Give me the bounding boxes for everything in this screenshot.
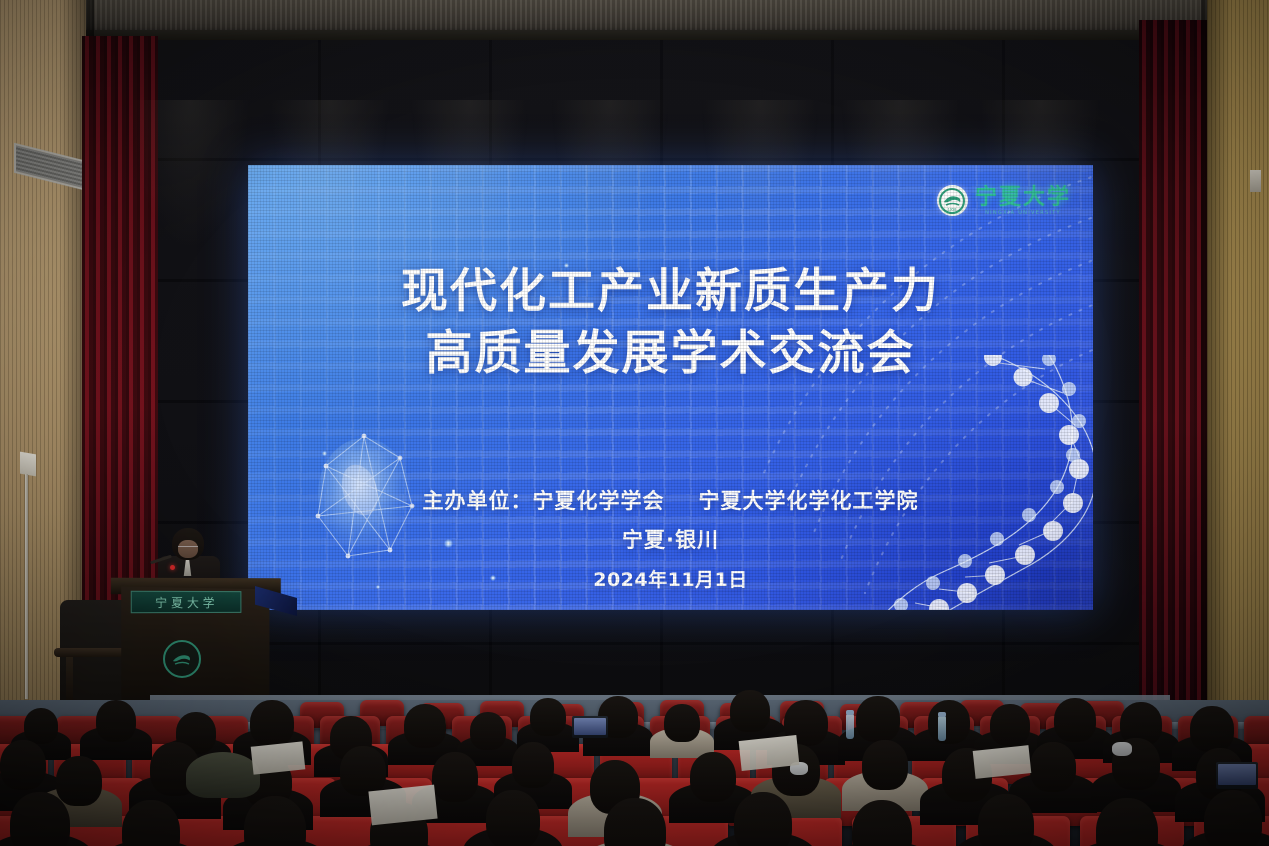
audience-head [470, 712, 506, 750]
handout-paper [739, 735, 800, 771]
screen-title-block: 现代化工产业新质生产力 高质量发展学术交流会 [248, 261, 1093, 385]
title-line-2: 高质量发展学术交流会 [248, 323, 1093, 385]
wall-junction-box-icon [20, 452, 36, 477]
water-bottle-cap [846, 710, 854, 715]
audience-head [1030, 742, 1076, 792]
audience-head [56, 756, 102, 806]
audience-head [856, 696, 900, 742]
water-bottle-icon [846, 714, 854, 739]
laptop-screen [574, 718, 606, 735]
audience-head [404, 704, 446, 748]
right-wall-shadow [1201, 0, 1231, 700]
handout-paper [368, 785, 437, 826]
audience-head [530, 698, 566, 736]
host-org-2: 宁夏大学化学化工学院 [699, 489, 919, 513]
audience-head [432, 752, 478, 802]
speaker-glasses-icon [178, 546, 198, 551]
audience-head [250, 700, 294, 746]
audience-head [690, 752, 736, 802]
audience-head [734, 792, 792, 846]
event-date: 2024年11月1日 [248, 565, 1093, 592]
podium-plaque: 宁夏大学 [131, 591, 242, 613]
audience-head [1190, 706, 1234, 752]
podium-plaque-text: 宁夏大学 [155, 593, 218, 610]
audience-head [730, 690, 770, 732]
handout-paper [973, 745, 1032, 779]
host-line: 主办单位：宁夏化学学会宁夏大学化学化工学院 [248, 485, 1093, 515]
event-city: 宁夏·银川 [248, 524, 1093, 554]
speaker-lapel-badge [170, 565, 175, 570]
light-spill [840, 100, 960, 250]
audience-head [10, 792, 70, 846]
sparkle [322, 451, 327, 456]
auditorium-scene: 1958 宁夏大学 NINGXIA UNIVERSITY 现代化工产业新质生产力… [0, 0, 1269, 846]
audience-cap [186, 752, 260, 798]
audience-head [664, 704, 700, 742]
light-spill [700, 100, 820, 250]
water-bottle-cap [938, 712, 946, 717]
handout-paper [251, 741, 306, 774]
laptop-screen [1218, 764, 1256, 785]
title-line-1: 现代化工产业新质生产力 [248, 261, 1093, 323]
host-org-1: 宁夏化学学会 [533, 489, 665, 513]
light-spill [410, 100, 530, 250]
audience-head [928, 700, 970, 744]
light-spill [550, 100, 670, 250]
audience-head [990, 704, 1030, 746]
audience-head [1054, 698, 1096, 742]
audience-head [978, 794, 1034, 846]
audience-head [1204, 790, 1262, 846]
podium-crest-icon [163, 640, 201, 678]
screen-subtitle-block: 主办单位：宁夏化学学会宁夏大学化学化工学院 宁夏·银川 2024年11月1日 [248, 485, 1093, 592]
audience-head [486, 790, 540, 846]
wall-conduit [25, 474, 28, 699]
face-mask-icon [1112, 742, 1132, 756]
audience-head [24, 708, 58, 744]
audience-head [340, 746, 386, 796]
light-spill [130, 100, 250, 250]
host-label: 主办单位： [423, 489, 533, 513]
light-spill [270, 100, 390, 250]
right-wall-box-icon [1250, 170, 1261, 192]
audience-head [512, 742, 554, 788]
audience-head [0, 740, 46, 790]
audience-head [96, 700, 136, 742]
audience-head [862, 740, 908, 790]
water-bottle-icon [938, 716, 946, 741]
light-spill [980, 100, 1100, 250]
